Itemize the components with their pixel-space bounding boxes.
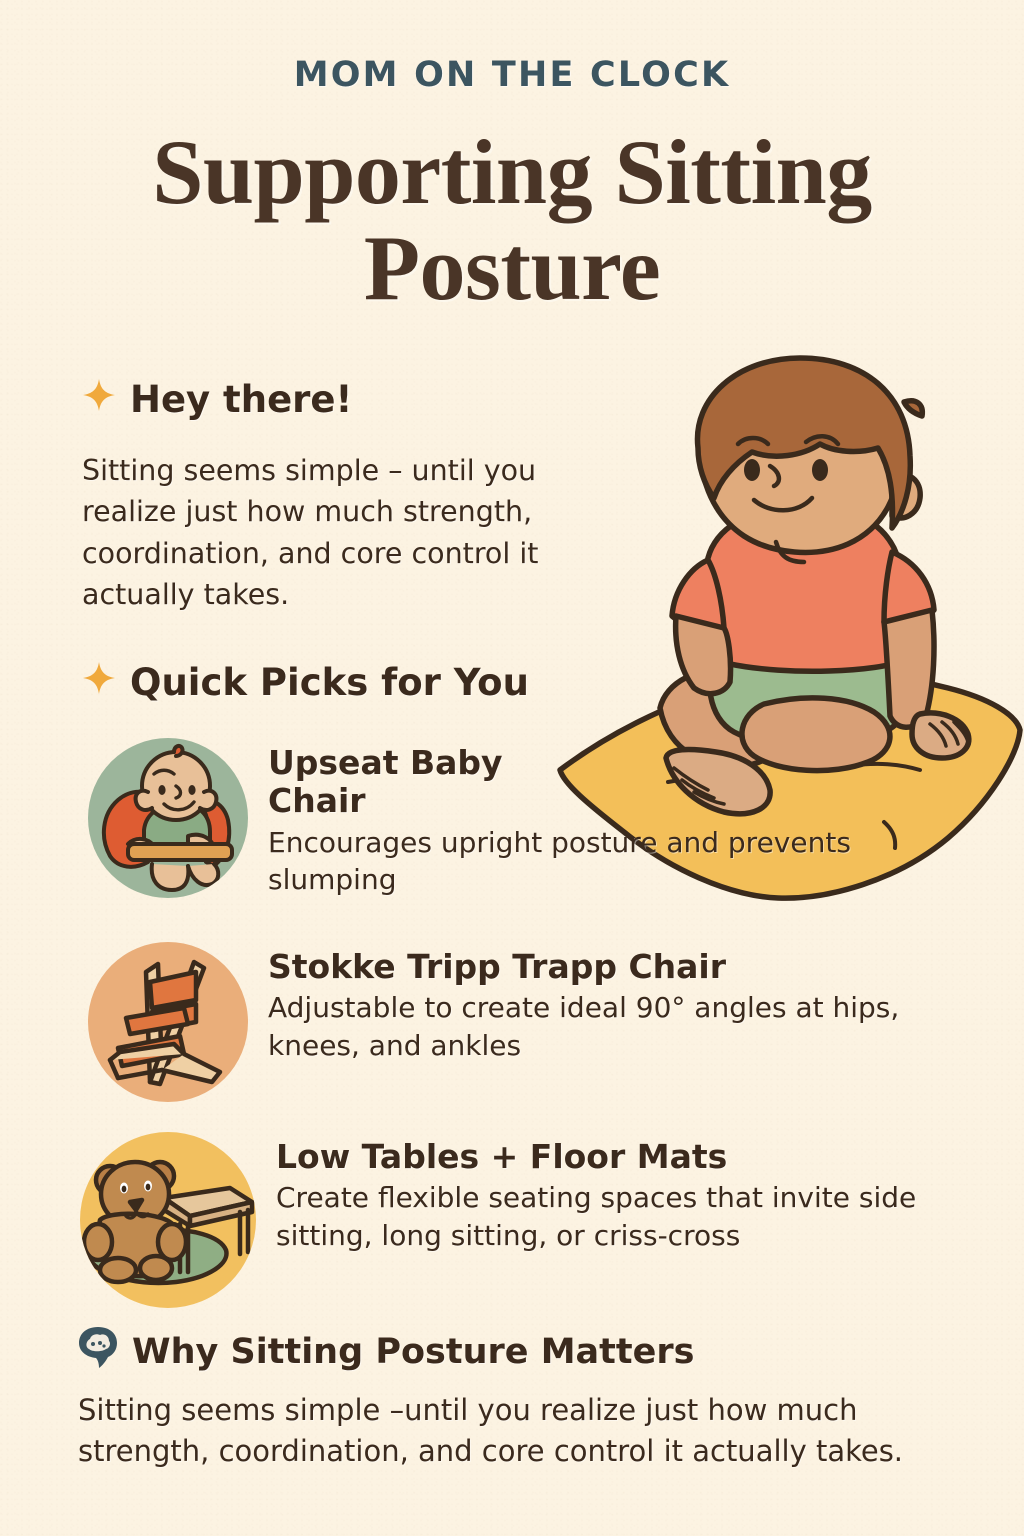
list-item-title: Low Tables + Floor Mats xyxy=(276,1138,996,1176)
list-item-title: Stokke Tripp Trapp Chair xyxy=(268,948,968,986)
why-heading-row: Why Sitting Posture Matters xyxy=(78,1325,694,1378)
left-eye xyxy=(744,459,760,481)
brand-kicker: MOM ON THE CLOCK xyxy=(0,55,1024,95)
intro-body: Sitting seems simple – until you realize… xyxy=(82,450,602,615)
sparkle-icon xyxy=(82,378,116,421)
baby-in-seat-icon xyxy=(88,738,248,898)
list-item-text: Low Tables + Floor Mats Create flexible … xyxy=(276,1132,996,1255)
picks-heading: Quick Picks for You xyxy=(130,661,529,704)
thought-bubble-icon xyxy=(78,1325,118,1378)
picks-heading-row: Quick Picks for You xyxy=(82,661,529,704)
list-item-description: Create flexible seating spaces that invi… xyxy=(276,1179,996,1255)
why-heading: Why Sitting Posture Matters xyxy=(132,1332,694,1372)
right-arm xyxy=(884,610,934,727)
why-body: Sitting seems simple –until you realize … xyxy=(78,1390,958,1471)
page-title: Supporting Sitting Posture xyxy=(60,125,964,316)
intro-heading: Hey there! xyxy=(130,378,352,421)
list-item[interactable]: Low Tables + Floor Mats Create flexible … xyxy=(80,1132,996,1308)
sparkle-icon xyxy=(82,661,116,704)
intro-heading-row: Hey there! xyxy=(82,378,352,421)
right-eye xyxy=(812,459,828,481)
infographic-page: MOM ON THE CLOCK Supporting Sitting Post… xyxy=(0,0,1024,1536)
list-item-description: Encourages upright posture and prevents … xyxy=(268,824,908,900)
list-item-description: Adjustable to create ideal 90° angles at… xyxy=(268,989,968,1065)
high-chair-icon xyxy=(88,942,248,1102)
hair-tuft xyxy=(904,401,922,416)
list-item[interactable]: Upseat Baby Chair Encourages upright pos… xyxy=(88,738,568,899)
right-shin xyxy=(742,698,890,771)
list-item[interactable]: Stokke Tripp Trapp Chair Adjustable to c… xyxy=(88,942,968,1102)
list-item-text: Upseat Baby Chair Encourages upright pos… xyxy=(268,738,568,899)
list-item-text: Stokke Tripp Trapp Chair Adjustable to c… xyxy=(268,942,968,1065)
teddy-bear-table-icon xyxy=(80,1132,256,1308)
list-item-title: Upseat Baby Chair xyxy=(268,744,568,821)
